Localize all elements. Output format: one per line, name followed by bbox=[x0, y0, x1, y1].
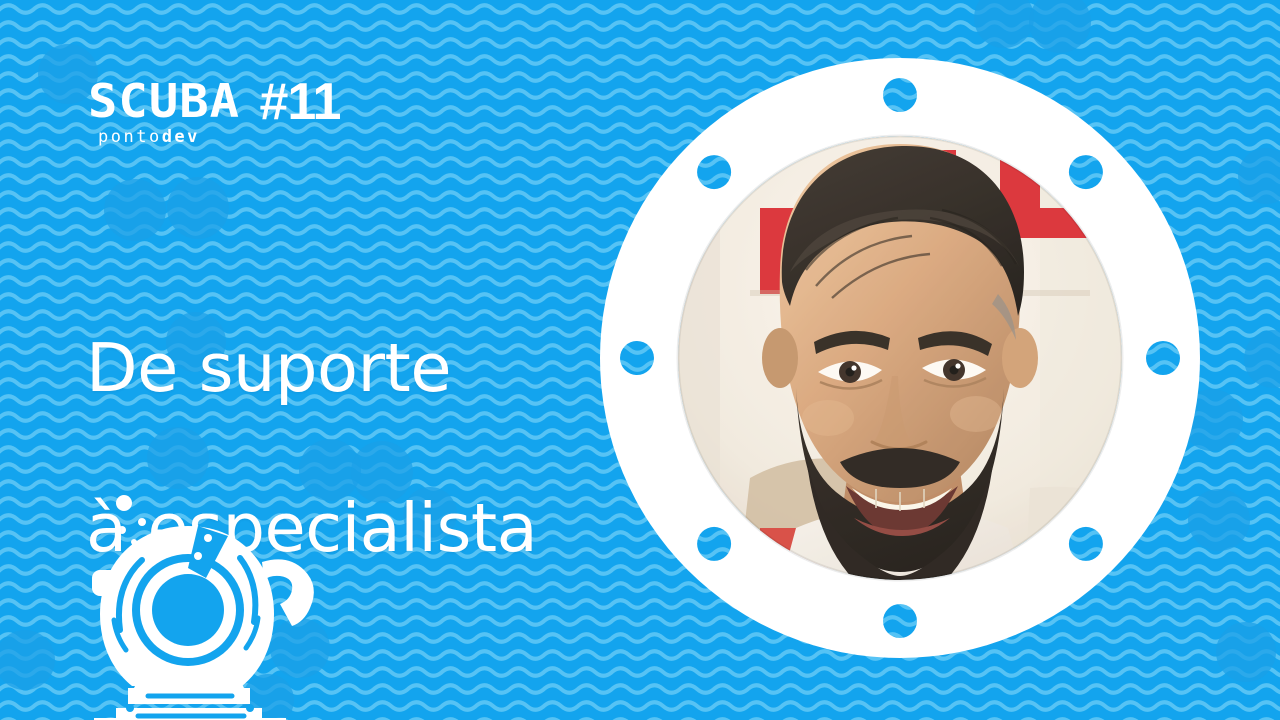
logo-sub-light: ponto bbox=[98, 127, 162, 147]
youtube-thumbnail: SCUBA pontodev #11 De suporte à especial… bbox=[0, 0, 1280, 720]
logo-subwordmark: pontodev bbox=[98, 128, 231, 146]
porthole-ring bbox=[600, 58, 1200, 658]
logo-wordmark: SCUBA bbox=[88, 78, 240, 124]
title-line-1: De suporte bbox=[86, 328, 537, 408]
logo-sub-bold: dev bbox=[162, 127, 200, 147]
logo-mark: SCUBA pontodev bbox=[88, 78, 231, 146]
bubble bbox=[0, 630, 55, 690]
brand-logo: SCUBA pontodev #11 bbox=[88, 78, 340, 146]
bubble bbox=[1238, 148, 1280, 204]
bubble bbox=[1029, 0, 1091, 53]
bubble bbox=[974, 0, 1034, 48]
bubble bbox=[1216, 622, 1276, 682]
episode-number: #11 bbox=[259, 78, 340, 126]
guest-photo-porthole bbox=[600, 58, 1200, 658]
bubble bbox=[104, 179, 166, 241]
bubble bbox=[167, 177, 229, 239]
diving-helmet-icon bbox=[86, 512, 326, 720]
bubble bbox=[1244, 330, 1280, 388]
